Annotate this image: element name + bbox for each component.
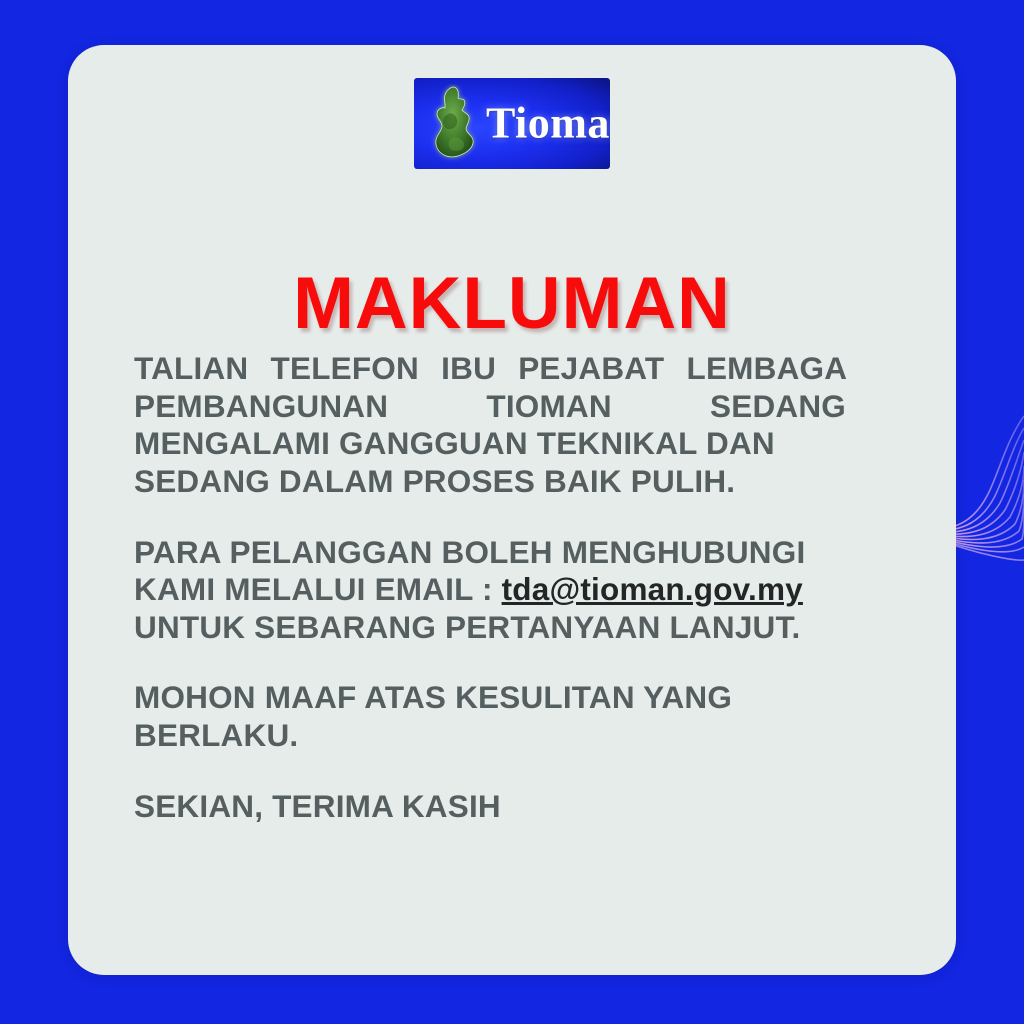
paragraph2-line3: UNTUK SEBARANG PERTANYAAN LANJUT. [134,609,800,645]
logo-container: Tioman [68,78,956,169]
paragraph3-line2: BERLAKU. [134,717,846,755]
announcement-poster: Tioman MAKLUMAN TALIAN TELEFON IBU PEJAB… [0,0,1024,1024]
tioman-logo: Tioman [414,78,610,169]
paragraph2-line1: PARA PELANGGAN BOLEH MENGHUBUNGI [134,534,805,570]
paragraph1-line2: PEMBANGUNAN TIOMAN SEDANG [134,388,846,424]
paragraph1-line3: MENGALAMI GANGGUAN TEKNIKAL DAN [134,425,775,461]
logo-wordmark: Tioman [486,97,610,148]
announcement-card: Tioman MAKLUMAN TALIAN TELEFON IBU PEJAB… [68,45,956,975]
paragraph1-line4: SEDANG DALAM PROSES BAIK PULIH. [134,463,846,501]
paragraph2-line2-prefix: KAMI MELALUI EMAIL : [134,571,502,607]
paragraph-service-disruption: TALIAN TELEFON IBU PEJABAT LEMBAGA PEMBA… [134,350,846,501]
paragraph-contact: PARA PELANGGAN BOLEH MENGHUBUNGI KAMI ME… [134,534,846,647]
paragraph3-line1: MOHON MAAF ATAS KESULITAN YANG [134,679,732,715]
paragraph-apology: MOHON MAAF ATAS KESULITAN YANG BERLAKU. [134,679,846,754]
paragraph1-line1: TALIAN TELEFON IBU PEJABAT LEMBAGA [134,350,846,386]
announcement-body: TALIAN TELEFON IBU PEJABAT LEMBAGA PEMBA… [134,350,846,858]
contact-email-link[interactable]: tda@tioman.gov.my [502,571,803,607]
page-title: MAKLUMAN [68,267,956,340]
tioman-island-icon [428,84,484,163]
paragraph-closing: SEKIAN, TERIMA KASIH [134,788,846,826]
